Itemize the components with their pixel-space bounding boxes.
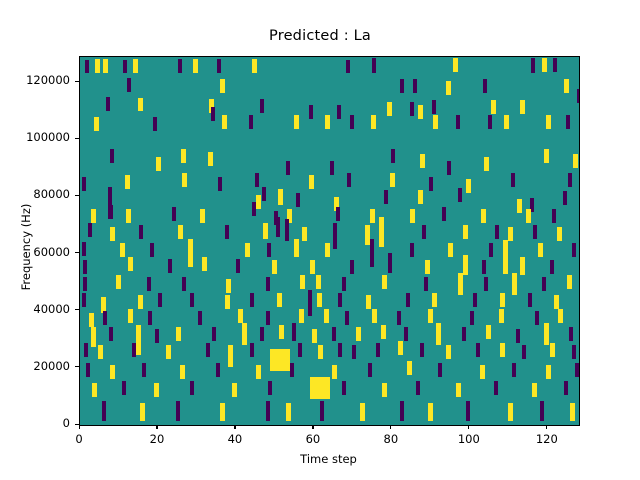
heatmap-cell [272, 260, 277, 274]
heatmap-cell [517, 199, 522, 213]
heatmap-cell [573, 154, 578, 168]
heatmap-cell [384, 190, 388, 204]
heatmap-cell [325, 243, 330, 257]
y-tick-label: 80000 [2, 187, 70, 201]
heatmap-cell [238, 309, 243, 323]
heatmap-cell [278, 189, 283, 205]
heatmap-cell [532, 383, 537, 397]
heatmap-cell [270, 349, 290, 371]
x-tick-mark [390, 425, 391, 429]
heatmap-cell [428, 403, 433, 421]
heatmap-cell [494, 381, 498, 395]
heatmap-cell [324, 309, 329, 323]
heatmap-cell [489, 243, 493, 257]
heatmap-cell [206, 343, 210, 357]
heatmap-cell [252, 59, 257, 73]
heatmap-cell [550, 260, 554, 274]
heatmap-cell [533, 225, 537, 239]
heatmap-cell [381, 325, 386, 339]
heatmap-cell [428, 309, 433, 323]
heatmap-cell [342, 381, 346, 395]
heatmap-cell [320, 401, 324, 421]
heatmap-cell [360, 403, 365, 421]
heatmap-cell [92, 383, 97, 397]
heatmap-cell [256, 365, 261, 379]
heatmap-cell [372, 309, 377, 323]
heatmap-cell [484, 157, 489, 171]
heatmap-cell [370, 209, 375, 223]
heatmap-cell [488, 115, 492, 129]
heatmap-cell [156, 157, 161, 171]
heatmap-cell [116, 275, 121, 289]
y-tick-mark [75, 81, 79, 82]
heatmap-cell [420, 343, 424, 357]
heatmap-cell [133, 59, 138, 73]
heatmap-cell [325, 115, 330, 129]
y-tick-label: 60000 [2, 245, 70, 259]
heatmap-cell [142, 363, 146, 377]
heatmap-cell [232, 383, 237, 397]
heatmap-cell [91, 327, 96, 347]
heatmap-cell [544, 149, 549, 163]
x-tick-label: 100 [439, 432, 499, 446]
heatmap-cell [446, 81, 451, 95]
heatmap-cell [82, 242, 86, 256]
heatmap-cell [447, 161, 451, 175]
heatmap-cell [466, 401, 470, 421]
heatmap-cell [123, 60, 127, 73]
heatmap-cell [508, 403, 513, 421]
x-tick-mark [234, 425, 235, 429]
heatmap-cell [83, 277, 87, 291]
heatmap-cell [168, 259, 172, 273]
heatmap-cell [181, 149, 186, 163]
heatmap-cell [228, 345, 233, 367]
y-tick-mark [75, 309, 79, 310]
heatmap-cell [94, 117, 99, 131]
heatmap-cell [570, 403, 575, 421]
heatmap-image [80, 57, 579, 425]
x-tick-label: 80 [361, 432, 421, 446]
heatmap-cell [557, 227, 562, 241]
heatmap-cell [432, 100, 436, 114]
heatmap-cell [83, 260, 87, 274]
heatmap-cell [456, 383, 461, 397]
heatmap-cell [407, 361, 412, 375]
heatmap-cell [158, 293, 162, 307]
heatmap-cell [317, 293, 322, 307]
heatmap-cell [330, 161, 334, 175]
heatmap-cell [350, 115, 354, 129]
y-tick-mark [75, 366, 79, 367]
heatmap-cell [575, 363, 579, 377]
heatmap-cell [310, 377, 330, 399]
heatmap-cell [398, 341, 403, 355]
heatmap-cell [190, 381, 194, 395]
heatmap-cell [486, 325, 491, 339]
heatmap-cell [310, 260, 315, 274]
heatmap-cell [82, 177, 86, 191]
heatmap-cell [424, 277, 428, 291]
heatmap-cell [503, 240, 508, 274]
heatmap-cell [136, 325, 141, 355]
heatmap-cell [176, 401, 180, 421]
heatmap-cell [400, 79, 404, 93]
heatmap-cell [345, 311, 349, 325]
heatmap-cell [520, 100, 525, 114]
heatmap-cell [286, 161, 290, 175]
heatmap-cell [482, 260, 486, 274]
heatmap-cell [292, 323, 296, 341]
heatmap-cell [552, 209, 556, 223]
y-tick-label: 0 [2, 416, 70, 430]
heatmap-cell [299, 309, 304, 323]
heatmap-cell [139, 225, 143, 239]
heatmap-cell [222, 115, 227, 129]
heatmap-cell [569, 327, 573, 341]
heatmap-cell [572, 345, 576, 359]
heatmap-cell [103, 59, 108, 73]
heatmap-cell [138, 295, 143, 309]
heatmap-cell [531, 58, 535, 73]
heatmap-cell [120, 243, 125, 257]
x-axis-label: Time step [79, 452, 578, 466]
y-tick-label: 120000 [2, 73, 70, 87]
x-tick-label: 20 [127, 432, 187, 446]
heatmap-cell [397, 311, 401, 325]
heatmap-cell [382, 383, 387, 397]
heatmap-cell [338, 293, 342, 307]
heatmap-cell [371, 115, 376, 129]
heatmap-cell [88, 223, 92, 237]
heatmap-cell [542, 58, 547, 72]
heatmap-cell [294, 239, 299, 257]
heatmap-cell [491, 100, 496, 114]
heatmap-cell [432, 293, 437, 307]
heatmap-cell [463, 255, 468, 275]
heatmap-cell [538, 243, 543, 257]
heatmap-cell [193, 59, 198, 73]
heatmap-cell [567, 275, 572, 289]
heatmap-cell [350, 260, 354, 274]
heatmap-cell [388, 253, 392, 273]
heatmap-cell [138, 98, 143, 111]
heatmap-cell [346, 60, 350, 73]
heatmap-cell [290, 363, 294, 377]
heatmap-cell [554, 295, 559, 309]
heatmap-cell [542, 277, 546, 291]
heatmap-cell [256, 195, 261, 209]
heatmap-cell [180, 365, 185, 379]
heatmap-cell [155, 329, 159, 343]
y-tick-mark [75, 252, 79, 253]
heatmap-cell [225, 295, 230, 309]
heatmap-cell [122, 381, 126, 395]
heatmap-cell [446, 345, 451, 359]
heatmap-cell [211, 107, 215, 121]
x-tick-mark [156, 425, 157, 429]
y-tick-label: 20000 [2, 359, 70, 373]
heatmap-cell [132, 343, 136, 357]
heatmap-cell [95, 59, 100, 73]
y-tick-label: 100000 [2, 130, 70, 144]
y-tick-label: 40000 [2, 302, 70, 316]
heatmap-cell [458, 188, 462, 202]
y-tick-mark [75, 195, 79, 196]
heatmap-cell [463, 225, 468, 239]
heatmap-cell [182, 173, 187, 187]
heatmap-cell [286, 403, 291, 421]
heatmap-cell [250, 343, 254, 357]
heatmap-cell [508, 227, 513, 241]
heatmap-cell [483, 79, 487, 93]
heatmap-cell [147, 277, 151, 291]
heatmap-cell [316, 275, 321, 289]
heatmap-cell [500, 293, 505, 307]
heatmap-cell [512, 273, 517, 295]
heatmap-cell [110, 227, 115, 241]
heatmap-cell [512, 363, 516, 377]
heatmap-cell [336, 207, 340, 221]
x-tick-mark [468, 425, 469, 429]
heatmap-cell [300, 275, 305, 289]
heatmap-cell [296, 193, 300, 207]
heatmap-cell [249, 115, 253, 129]
heatmap-cell [218, 177, 222, 191]
heatmap-cell [404, 327, 408, 341]
heatmap-cell [379, 217, 384, 247]
heatmap-cell [86, 363, 90, 377]
heatmap-cell [522, 345, 526, 359]
heatmap-axes [79, 56, 580, 426]
heatmap-cell [318, 345, 323, 359]
heatmap-cell [473, 293, 477, 307]
heatmap-cell [368, 363, 372, 377]
heatmap-cell [127, 78, 131, 92]
heatmap-cell [425, 260, 430, 274]
heatmap-cell [520, 257, 525, 275]
heatmap-cell [382, 275, 387, 289]
heatmap-cell [200, 209, 205, 223]
heatmap-cell [572, 243, 576, 257]
heatmap-cell [413, 79, 417, 93]
heatmap-cell [308, 290, 312, 316]
heatmap-cell [178, 225, 183, 239]
heatmap-cell [333, 223, 337, 249]
heatmap-cell [128, 257, 133, 271]
heatmap-cell [366, 295, 371, 309]
heatmap-cell [558, 309, 563, 323]
heatmap-cell [140, 403, 145, 421]
heatmap-cell [242, 323, 247, 345]
heatmap-cell [387, 102, 392, 116]
heatmap-cell [416, 381, 420, 395]
heatmap-cell [217, 59, 221, 73]
heatmap-cell [245, 243, 250, 257]
heatmap-cell [577, 89, 580, 103]
heatmap-cell [500, 343, 505, 357]
heatmap-cell [499, 309, 504, 323]
heatmap-cell [453, 58, 458, 72]
heatmap-cell [260, 99, 264, 113]
heatmap-cell [442, 207, 446, 221]
heatmap-cell [540, 401, 544, 421]
heatmap-cell [277, 293, 282, 307]
heatmap-cell [268, 381, 272, 395]
heatmap-cell [236, 259, 240, 273]
heatmap-cell [347, 173, 351, 187]
heatmap-cell [332, 365, 337, 379]
x-tick-mark [312, 425, 313, 429]
heatmap-cell [433, 115, 438, 129]
y-tick-mark [75, 138, 79, 139]
heatmap-cell [352, 345, 356, 359]
heatmap-cell [332, 327, 336, 341]
heatmap-cell [422, 225, 426, 239]
heatmap-cell [153, 117, 157, 131]
heatmap-cell [568, 173, 572, 187]
heatmap-cell [546, 365, 551, 379]
heatmap-cell [208, 152, 213, 166]
heatmap-cell [504, 115, 509, 129]
heatmap-cell [410, 209, 415, 223]
heatmap-cell [220, 79, 225, 93]
heatmap-cell [484, 277, 488, 291]
heatmap-cell [108, 187, 112, 207]
heatmap-cell [466, 179, 471, 193]
heatmap-cell [126, 209, 131, 223]
heatmap-cell [260, 327, 264, 341]
heatmap-cell [125, 175, 130, 189]
heatmap-cell [429, 177, 433, 191]
heatmap-cell [462, 327, 466, 341]
heatmap-cell [410, 243, 414, 257]
heatmap-cell [406, 293, 410, 307]
heatmap-cell [480, 365, 485, 379]
heatmap-cell [370, 239, 374, 267]
heatmap-cell [535, 311, 539, 325]
heatmap-cell [309, 105, 313, 119]
heatmap-cell [526, 209, 531, 223]
heatmap-cell [372, 58, 376, 73]
heatmap-cell [150, 243, 154, 257]
heatmap-cell [91, 209, 96, 223]
heatmap-cell [212, 327, 216, 341]
heatmap-cell [356, 327, 361, 341]
heatmap-cell [294, 115, 299, 129]
heatmap-cell [148, 311, 152, 325]
heatmap-cell [546, 115, 551, 129]
heatmap-cell [495, 225, 499, 239]
heatmap-cell [109, 327, 113, 341]
heatmap-cell [309, 175, 314, 189]
heatmap-cell [312, 329, 317, 343]
heatmap-cell [202, 257, 207, 271]
heatmap-cell [338, 343, 342, 357]
heatmap-cell [262, 187, 266, 201]
heatmap-cell [438, 363, 442, 377]
heatmap-cell [255, 173, 259, 187]
heatmap-cell [298, 343, 302, 357]
x-tick-label: 40 [205, 432, 265, 446]
heatmap-cell [176, 327, 181, 341]
heatmap-cell [108, 205, 113, 219]
heatmap-cell [250, 293, 254, 307]
x-tick-label: 60 [283, 432, 343, 446]
heatmap-cell [516, 329, 520, 343]
heatmap-cell [263, 223, 268, 239]
heatmap-cell [110, 149, 114, 163]
heatmap-cell [266, 277, 270, 291]
heatmap-cell [285, 219, 289, 241]
heatmap-cell [89, 313, 94, 327]
heatmap-cell [216, 363, 220, 377]
heatmap-cell [544, 323, 549, 345]
heatmap-cell [279, 325, 284, 339]
heatmap-cell [172, 207, 176, 221]
heatmap-cell [410, 102, 414, 116]
heatmap-cell [266, 401, 270, 421]
heatmap-cell [458, 273, 463, 295]
matplotlib-figure: Predicted : La Frequency (Hz) 0200004000… [0, 0, 640, 480]
heatmap-cell [420, 154, 425, 168]
x-tick-label: 120 [517, 432, 577, 446]
heatmap-cell [528, 293, 532, 307]
heatmap-cell [110, 365, 115, 379]
heatmap-cell [511, 173, 515, 187]
heatmap-cell [252, 202, 256, 216]
heatmap-cell [267, 243, 271, 257]
heatmap-cell [470, 311, 474, 325]
heatmap-cell [85, 60, 89, 73]
heatmap-cell [98, 345, 103, 359]
heatmap-cell [182, 277, 186, 291]
heatmap-cell [564, 79, 569, 93]
heatmap-cell [418, 105, 423, 119]
heatmap-cell [476, 343, 480, 357]
heatmap-cell [266, 311, 270, 325]
heatmap-cell [103, 311, 107, 325]
heatmap-cell [154, 383, 159, 397]
heatmap-cell [226, 279, 231, 293]
heatmap-cell [553, 58, 557, 72]
heatmap-cell [188, 239, 193, 267]
heatmap-cell [106, 97, 110, 111]
heatmap-cell [481, 209, 486, 223]
heatmap-cell [376, 343, 380, 357]
heatmap-cell [390, 173, 395, 187]
heatmap-cell [391, 149, 395, 163]
heatmap-cell [448, 243, 453, 257]
x-tick-mark [546, 425, 547, 429]
x-tick-label: 0 [49, 432, 109, 446]
heatmap-cell [102, 401, 106, 421]
heatmap-cell [563, 191, 567, 205]
heatmap-cell [82, 293, 86, 307]
heatmap-cell [128, 309, 133, 323]
heatmap-cell [400, 401, 404, 421]
heatmap-cell [225, 225, 229, 239]
heatmap-cell [198, 311, 202, 325]
heatmap-cell [166, 345, 171, 359]
heatmap-cell [190, 293, 194, 307]
heatmap-cell [337, 105, 341, 119]
heatmap-cell [342, 277, 346, 291]
x-tick-mark [79, 425, 80, 429]
heatmap-cell [418, 190, 423, 204]
heatmap-cell [436, 323, 441, 345]
heatmap-cell [456, 115, 460, 129]
